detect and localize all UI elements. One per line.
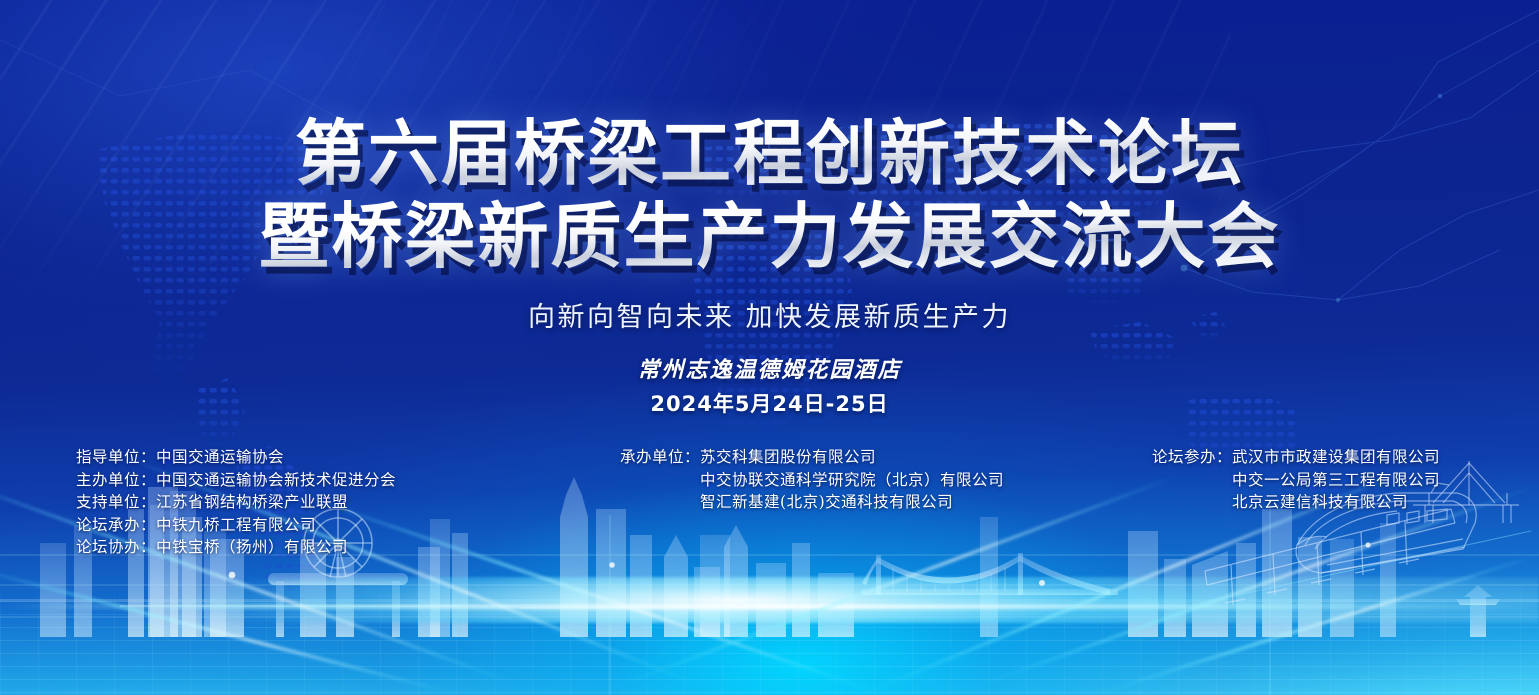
- venue-name: 常州志逸温德姆花园酒店: [0, 352, 1539, 384]
- organizer-label: 主办单位：: [76, 469, 156, 492]
- banner-title-block: 第六届桥梁工程创新技术论坛 暨桥梁新质生产力发展交流大会: [0, 112, 1539, 278]
- organizer-label: 支持单位：: [76, 491, 156, 514]
- organizer-row: 论坛参办： 北京云建信科技有限公司: [1152, 491, 1440, 514]
- organizer-value: 苏交科集团股份有限公司: [700, 446, 876, 469]
- conference-banner: 第六届桥梁工程创新技术论坛 暨桥梁新质生产力发展交流大会 向新向智向未来 加快发…: [0, 0, 1539, 695]
- organizer-row: 论坛承办： 中铁九桥工程有限公司: [76, 514, 396, 537]
- organizer-value: 中铁九桥工程有限公司: [156, 514, 316, 537]
- organizer-row: 承办单位： 苏交科集团股份有限公司: [620, 446, 1004, 469]
- title-line-1: 第六届桥梁工程创新技术论坛: [0, 112, 1539, 195]
- organizer-value: 江苏省钢结构桥梁产业联盟: [156, 491, 348, 514]
- organizer-label: 论坛参办：: [1152, 446, 1232, 469]
- organizer-row: 承办单位： 智汇新基建(北京)交通科技有限公司: [620, 491, 1004, 514]
- organizers-column-right: 论坛参办： 武汉市市政建设集团有限公司 论坛参办： 中交一公局第三工程有限公司 …: [1152, 446, 1440, 514]
- organizer-row: 主办单位： 中国交通运输协会新技术促进分会: [76, 469, 396, 492]
- venue-block: 常州志逸温德姆花园酒店 2024年5月24日-25日: [0, 352, 1539, 418]
- organizer-value: 北京云建信科技有限公司: [1232, 491, 1408, 514]
- organizer-row: 论坛参办： 中交一公局第三工程有限公司: [1152, 469, 1440, 492]
- organizer-value: 中交一公局第三工程有限公司: [1232, 469, 1440, 492]
- organizer-row: 承办单位： 中交协联交通科学研究院（北京）有限公司: [620, 469, 1004, 492]
- organizer-value: 中交协联交通科学研究院（北京）有限公司: [700, 469, 1004, 492]
- organizer-row: 论坛协办： 中铁宝桥（扬州）有限公司: [76, 536, 396, 559]
- organizer-label: 承办单位：: [620, 446, 700, 469]
- organizer-label: 指导单位：: [76, 446, 156, 469]
- organizer-row: 指导单位： 中国交通运输协会: [76, 446, 396, 469]
- event-date: 2024年5月24日-25日: [0, 388, 1539, 418]
- organizer-value: 中国交通运输协会: [156, 446, 284, 469]
- organizer-label: 论坛承办：: [76, 514, 156, 537]
- organizer-value: 中铁宝桥（扬州）有限公司: [156, 536, 348, 559]
- organizers-section: 指导单位： 中国交通运输协会 主办单位： 中国交通运输协会新技术促进分会 支持单…: [0, 446, 1539, 566]
- organizer-value: 智汇新基建(北京)交通科技有限公司: [700, 491, 953, 514]
- title-line-2: 暨桥梁新质生产力发展交流大会: [0, 195, 1539, 278]
- banner-subtitle: 向新向智向未来 加快发展新质生产力: [0, 295, 1539, 334]
- organizer-value: 武汉市市政建设集团有限公司: [1232, 446, 1440, 469]
- organizer-value: 中国交通运输协会新技术促进分会: [156, 469, 396, 492]
- organizers-column-left: 指导单位： 中国交通运输协会 主办单位： 中国交通运输协会新技术促进分会 支持单…: [76, 446, 396, 559]
- organizer-row: 论坛参办： 武汉市市政建设集团有限公司: [1152, 446, 1440, 469]
- organizers-column-center: 承办单位： 苏交科集团股份有限公司 承办单位： 中交协联交通科学研究院（北京）有…: [620, 446, 1004, 514]
- organizer-row: 支持单位： 江苏省钢结构桥梁产业联盟: [76, 491, 396, 514]
- organizer-label: 论坛协办：: [76, 536, 156, 559]
